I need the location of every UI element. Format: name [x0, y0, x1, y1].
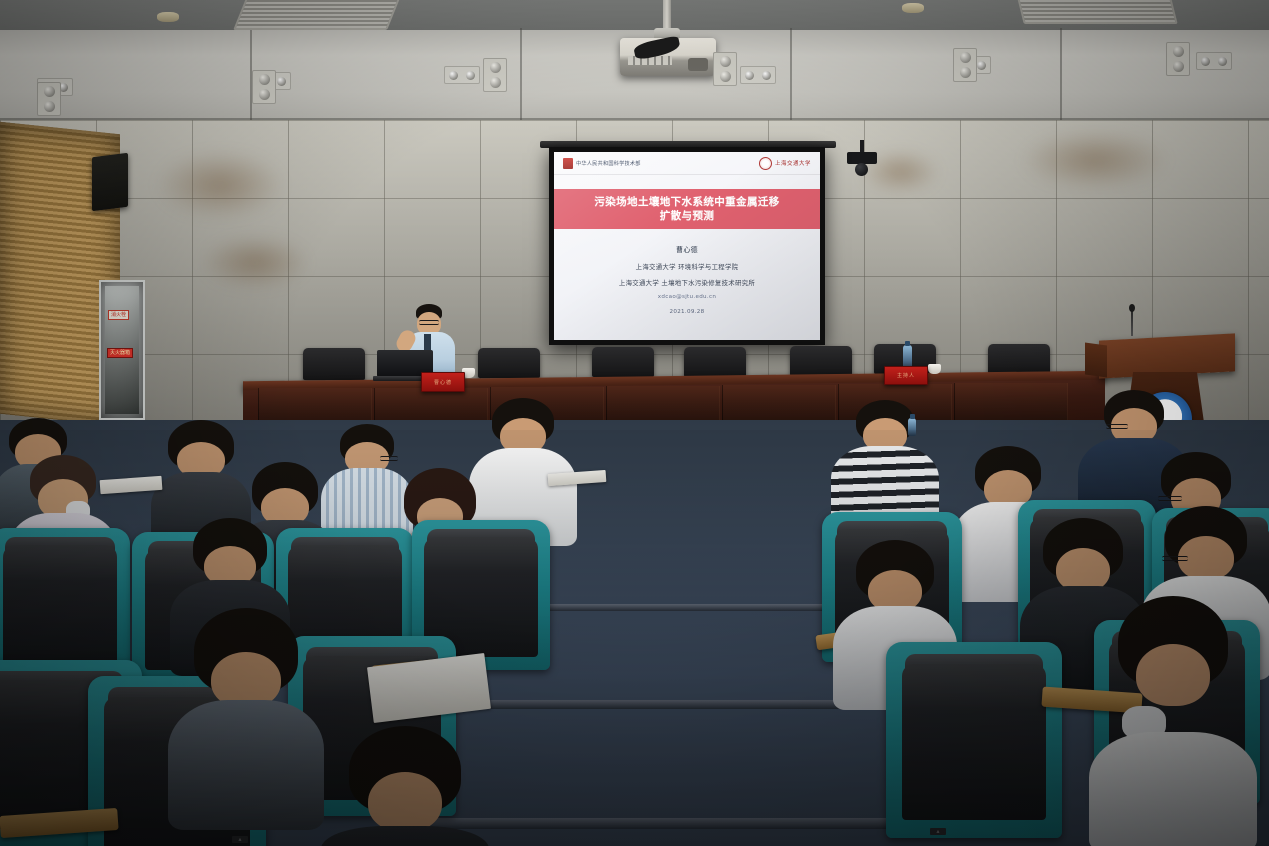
seat-number-tag: A	[930, 828, 946, 835]
audience-torso	[168, 700, 324, 830]
ceiling-seam	[790, 28, 792, 132]
audience-glasses-icon	[1106, 424, 1128, 429]
projection-screen: 中华人民共和国科学技术部 上海交通大学 污染场地土壤地下水系统中重金属迁移 扩散…	[554, 152, 820, 340]
audience-head	[1136, 644, 1210, 706]
affiliation-line-1: 上海交通大学 环境科学与工程学院	[636, 262, 739, 271]
audience-member	[330, 424, 404, 534]
auditorium-seat[interactable]	[886, 642, 1062, 838]
audience-head	[368, 772, 442, 832]
wall-speaker-plate	[1166, 42, 1190, 76]
fire-hose-cabinet[interactable]: 消火栓 灭火器箱	[99, 280, 145, 420]
fire-cabinet-label: 消火栓	[108, 310, 129, 320]
wall-speaker-plate	[953, 48, 977, 82]
presenter-glasses-icon	[419, 320, 439, 325]
nameplate-presenter: 曹心德	[421, 372, 465, 392]
seat-back	[902, 664, 1046, 821]
presentation-date: 2021.09.28	[669, 309, 704, 315]
ceiling-projector	[620, 38, 716, 76]
nameplate-host: 主持人	[884, 366, 928, 385]
presentation-slide: 中华人民共和国科学技术部 上海交通大学 污染场地土壤地下水系统中重金属迁移 扩散…	[554, 152, 820, 340]
projector-lens	[688, 58, 708, 71]
projection-screen-frame: 中华人民共和国科学技术部 上海交通大学 污染场地土壤地下水系统中重金属迁移 扩散…	[549, 147, 825, 345]
audience-member	[178, 608, 314, 808]
ministry-logo: 中华人民共和国科学技术部	[563, 158, 641, 169]
nameplate-presenter-text: 曹心德	[434, 379, 452, 386]
wall-speaker-plate	[37, 82, 61, 116]
fire-extinguisher-label: 灭火器箱	[107, 348, 133, 358]
stage-chair[interactable]	[684, 347, 746, 377]
university-logo: 上海交通大学	[759, 157, 811, 170]
table-panel	[954, 383, 1068, 423]
ceiling-air-vent	[1016, 0, 1177, 24]
podium-side-wing	[1085, 342, 1107, 377]
audience-member	[838, 400, 932, 520]
lecture-hall-photo: 消火栓 灭火器箱 中华人民共和国科学技术部	[0, 0, 1269, 846]
table-panel	[722, 385, 836, 425]
slide-title-band: 污染场地土壤地下水系统中重金属迁移 扩散与预测	[554, 189, 820, 229]
slide-body: 曹心德 上海交通大学 环境科学与工程学院 上海交通大学 土壤地下水污染修复技术研…	[554, 229, 820, 340]
stage-chair[interactable]	[988, 344, 1050, 374]
audience-torso	[1089, 732, 1257, 846]
wall-speaker-plate	[483, 58, 507, 92]
slide-title-line-1: 污染场地土壤地下水系统中重金属迁移	[558, 195, 816, 209]
ceiling-seam	[520, 28, 522, 132]
university-label: 上海交通大学	[775, 159, 811, 167]
audience-member	[330, 726, 480, 846]
podium-desktop	[1099, 333, 1235, 378]
national-emblem-icon	[563, 158, 573, 169]
ceiling-downlight	[1196, 52, 1232, 70]
university-seal-icon	[759, 157, 772, 170]
stage-chair[interactable]	[592, 347, 654, 377]
ceiling-air-vent	[233, 0, 401, 30]
audience-torso	[321, 826, 489, 846]
smoke-detector	[157, 12, 179, 22]
water-bottle[interactable]	[908, 418, 916, 436]
seat-number-tag: A	[232, 836, 248, 843]
auditorium-seat[interactable]	[0, 528, 130, 678]
audience-glasses-icon	[380, 456, 398, 461]
teacup[interactable]	[928, 364, 941, 374]
audience-glasses-icon	[1162, 556, 1188, 561]
stage-chair[interactable]	[303, 348, 365, 380]
stage-chair[interactable]	[790, 346, 852, 376]
audience-member	[1100, 596, 1246, 816]
wall-speaker-plate	[713, 52, 737, 86]
seat-back	[3, 545, 118, 665]
audience-member	[480, 398, 566, 528]
slide-header: 中华人民共和国科学技术部 上海交通大学	[554, 152, 820, 175]
ceiling-seam	[1060, 28, 1062, 132]
wall-speaker	[92, 153, 128, 211]
smoke-detector	[902, 3, 924, 13]
affiliation-line-2: 上海交通大学 土壤地下水污染修复技术研究所	[619, 278, 755, 287]
presenter-name: 曹心德	[676, 245, 698, 255]
podium-microphone[interactable]	[1131, 310, 1133, 336]
ministry-label: 中华人民共和国科学技术部	[576, 160, 641, 167]
slide-title-line-2: 扩散与预测	[558, 209, 816, 223]
wall-speaker-plate	[252, 70, 276, 104]
audience-glasses-icon	[1158, 496, 1182, 501]
presenter-email: xdcao@sjtu.edu.cn	[658, 294, 716, 300]
security-camera	[847, 152, 877, 164]
ceiling-downlight	[740, 66, 776, 84]
nameplate-host-text: 主持人	[897, 372, 915, 379]
ceiling-downlight	[444, 66, 480, 84]
stage-chair[interactable]	[478, 348, 540, 378]
